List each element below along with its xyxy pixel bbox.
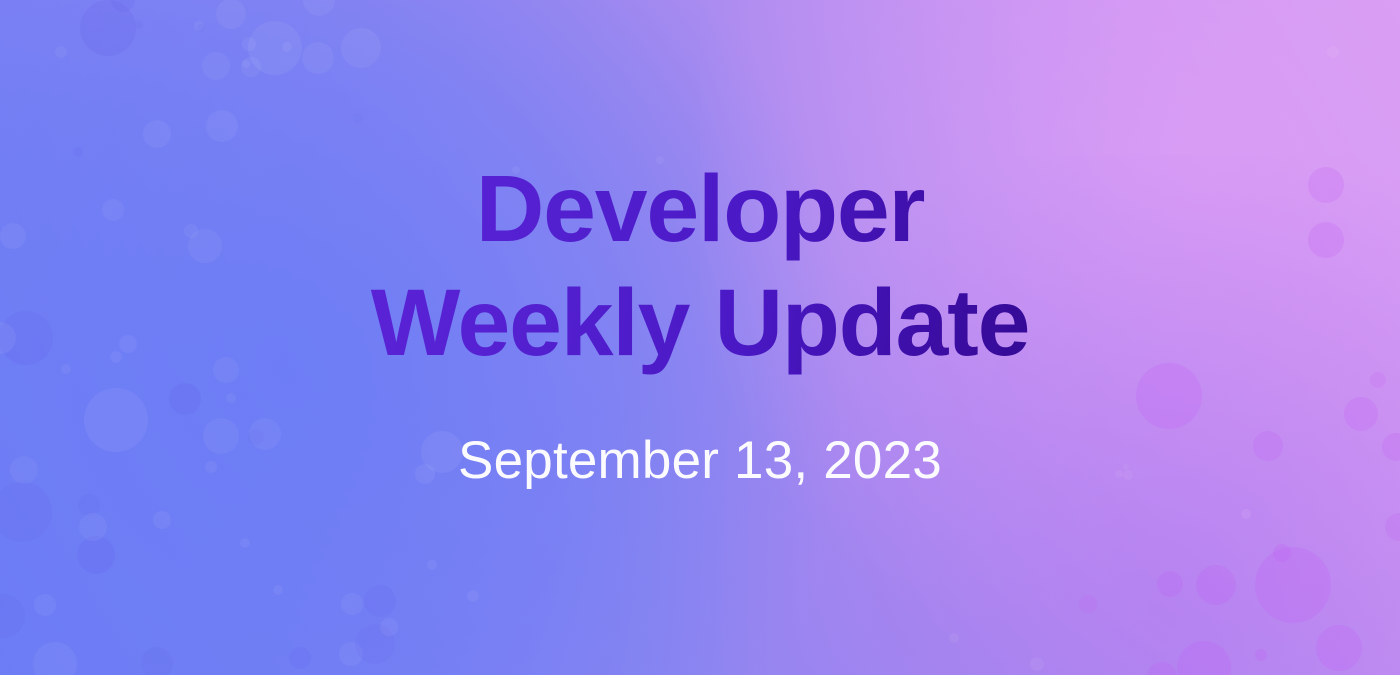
developer-weekly-update-banner: Developer Weekly Update September 13, 20… <box>0 0 1400 675</box>
banner-content: Developer Weekly Update September 13, 20… <box>0 0 1400 675</box>
page-title: Developer Weekly Update <box>371 152 1029 380</box>
issue-date: September 13, 2023 <box>458 432 942 490</box>
